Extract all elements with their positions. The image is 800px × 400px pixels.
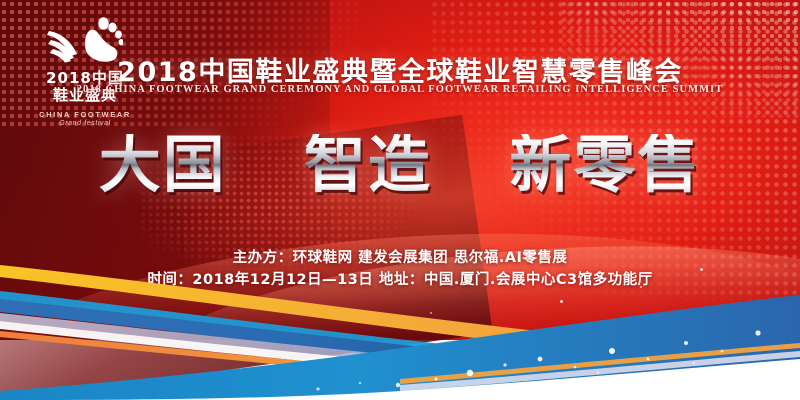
ribbon-wave-decoration (0, 255, 800, 400)
event-title-english: 2018 CHINA FOOTWEAR GRAND CEREMONY AND G… (0, 84, 800, 95)
headline-word-3: 新零售 (509, 134, 701, 196)
headline-word-2: 智造 (304, 134, 432, 196)
event-banner: 2018中国 鞋业盛典 CHINA FOOTWEAR Grand festiva… (0, 0, 800, 400)
headline-word-1: 大国 (99, 134, 227, 196)
logo-english-1: CHINA FOOTWEAR (26, 110, 144, 119)
logo-english-2: Grand festival (26, 120, 144, 127)
headline-slogan: 大国 智造 新零售 (0, 134, 800, 196)
